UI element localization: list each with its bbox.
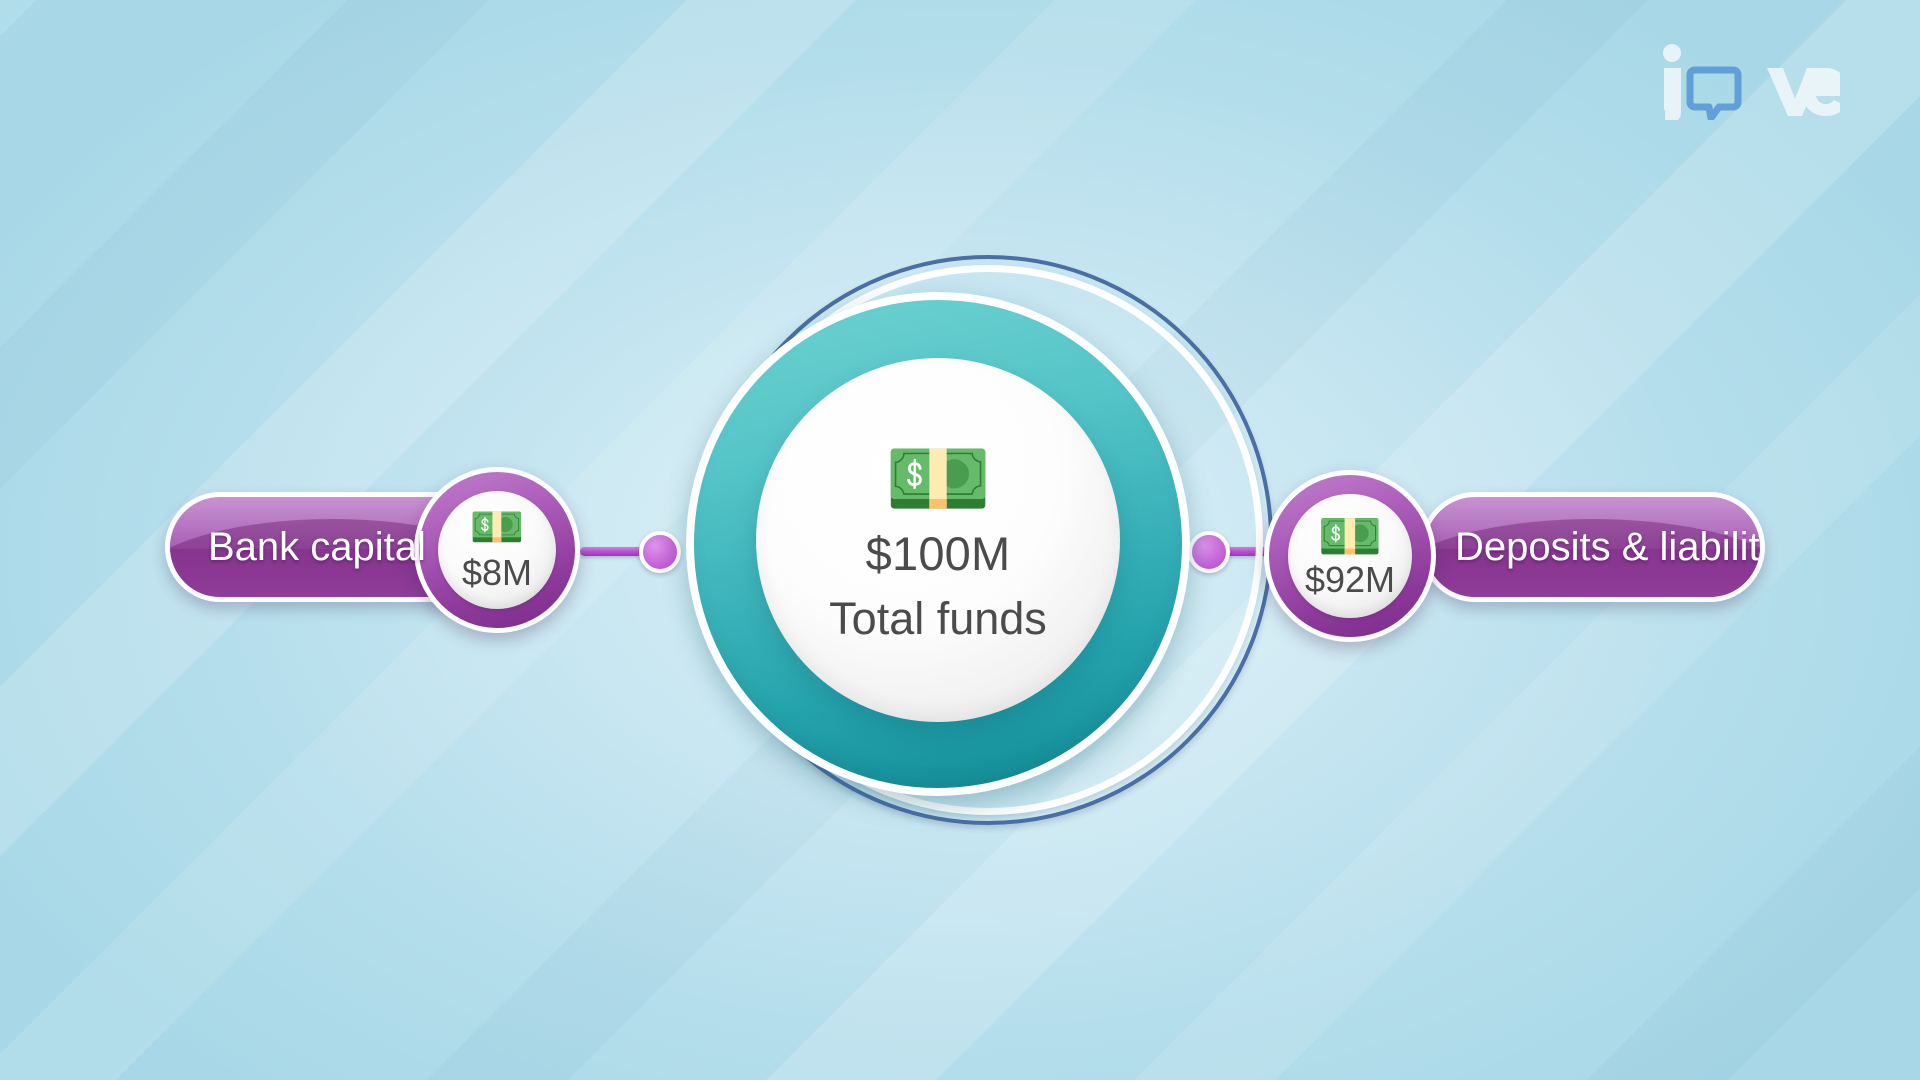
total-funds-label: Total funds	[829, 593, 1047, 645]
connector-dot-left	[639, 531, 681, 573]
bank-capital-label: Bank capital	[208, 525, 426, 570]
jove-logo	[1655, 42, 1840, 120]
total-funds-amount: $100M	[866, 526, 1011, 581]
deposits-liabilities-label: Deposits & liabilities	[1455, 525, 1765, 570]
deposits-liabilities-node-inner: 💵 $92M	[1288, 494, 1411, 617]
bank-capital-node[interactable]: 💵 $8M	[414, 467, 580, 633]
bank-capital-amount: $8M	[462, 552, 532, 594]
money-stacks-icon: 💵	[1318, 511, 1383, 563]
bank-capital-node-inner: 💵 $8M	[438, 491, 557, 610]
banknote-icon: 💵	[470, 506, 525, 550]
deposits-liabilities-pill[interactable]: Deposits & liabilities	[1420, 492, 1765, 602]
deposits-liabilities-node[interactable]: 💵 $92M	[1264, 470, 1436, 642]
total-funds-node[interactable]: 💵 $100M Total funds	[756, 358, 1120, 722]
money-stacks-icon: 💵	[884, 436, 991, 522]
deposits-liabilities-amount: $92M	[1305, 559, 1395, 601]
